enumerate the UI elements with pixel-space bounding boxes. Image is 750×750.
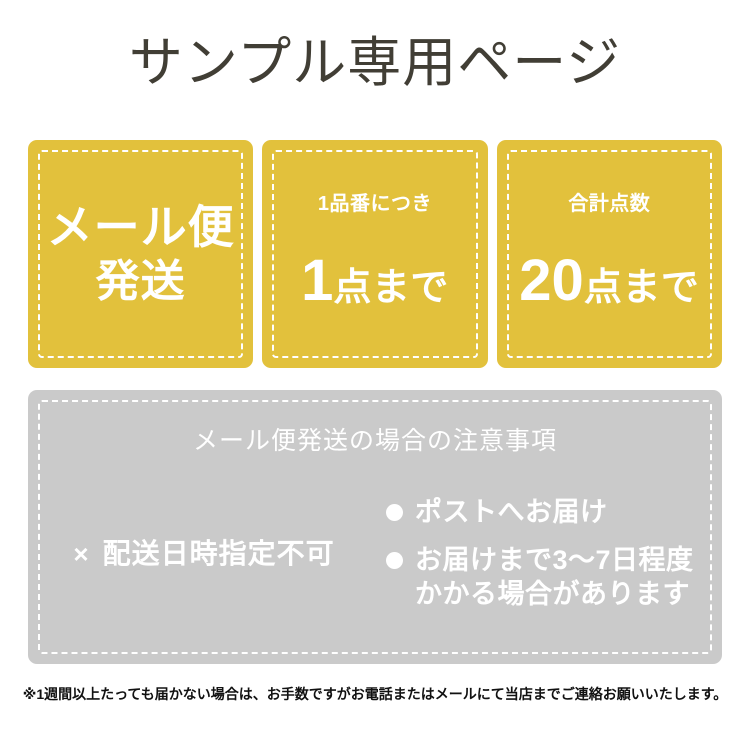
- bullet-text: お届けまで3〜7日程度 かかる場合があります: [415, 543, 694, 611]
- shipping-method-content: メール便 発送: [28, 140, 253, 368]
- bullet-dot-icon: [386, 504, 403, 521]
- cross-mark-icon: ×: [73, 538, 88, 570]
- shipping-method-line2: 発送: [96, 255, 186, 309]
- notice-body: × 配送日時指定不可 ポストへお届け お届けまで3〜7日程度: [28, 495, 722, 645]
- feature-box-total-limit: 合計点数 20 点まで: [497, 140, 722, 368]
- per-item-limit-number: 1: [301, 251, 333, 311]
- notice-heading: メール便発送の場合の注意事項: [28, 424, 722, 458]
- feature-box-per-item-limit: 1品番につき 1 点まで: [262, 140, 487, 368]
- notice-panel: メール便発送の場合の注意事項 × 配送日時指定不可 ポストへお届け: [28, 390, 722, 664]
- notice-restriction: × 配送日時指定不可: [28, 495, 380, 571]
- total-limit-number: 20: [519, 251, 584, 311]
- per-item-limit-value: 1 点まで: [301, 251, 449, 318]
- notice-restriction-text: 配送日時指定不可: [103, 537, 335, 571]
- list-item: ポストへお届け: [386, 495, 722, 529]
- bullet-line-1: ポストへお届け: [415, 495, 608, 529]
- list-item: お届けまで3〜7日程度 かかる場合があります: [386, 543, 722, 611]
- total-limit-content: 合計点数 20 点まで: [497, 140, 722, 368]
- total-limit-caption: 合計点数: [568, 191, 650, 217]
- bullet-line-2: かかる場合があります: [415, 577, 694, 611]
- per-item-limit-unit: 点まで: [333, 258, 449, 318]
- bullet-line-1: お届けまで3〜7日程度: [415, 543, 694, 577]
- bullet-text: ポストへお届け: [415, 495, 608, 529]
- bullet-dot-icon: [386, 552, 403, 569]
- notice-restriction-wrap: × 配送日時指定不可: [73, 537, 334, 571]
- feature-box-row: メール便 発送 1品番につき 1 点まで 合計点数 20 点まで: [28, 140, 722, 368]
- notice-bullet-list: ポストへお届け お届けまで3〜7日程度 かかる場合があります: [380, 495, 722, 611]
- page-title: サンプル専用ページ: [0, 30, 750, 96]
- feature-box-shipping-method: メール便 発送: [28, 140, 253, 368]
- sample-page-banner: サンプル専用ページ メール便 発送 1品番につき 1 点まで 合計点数 20: [0, 0, 750, 750]
- footer-note: ※1週間以上たっても届かない場合は、お手数ですがお電話またはメールにて当店までご…: [0, 683, 750, 705]
- per-item-limit-content: 1品番につき 1 点まで: [262, 140, 487, 368]
- total-limit-value: 20 点まで: [519, 251, 699, 318]
- shipping-method-line1: メール便: [47, 199, 235, 255]
- total-limit-unit: 点まで: [584, 258, 700, 318]
- per-item-limit-caption: 1品番につき: [318, 191, 432, 217]
- notice-panel-content: メール便発送の場合の注意事項 × 配送日時指定不可 ポストへお届け: [28, 390, 722, 664]
